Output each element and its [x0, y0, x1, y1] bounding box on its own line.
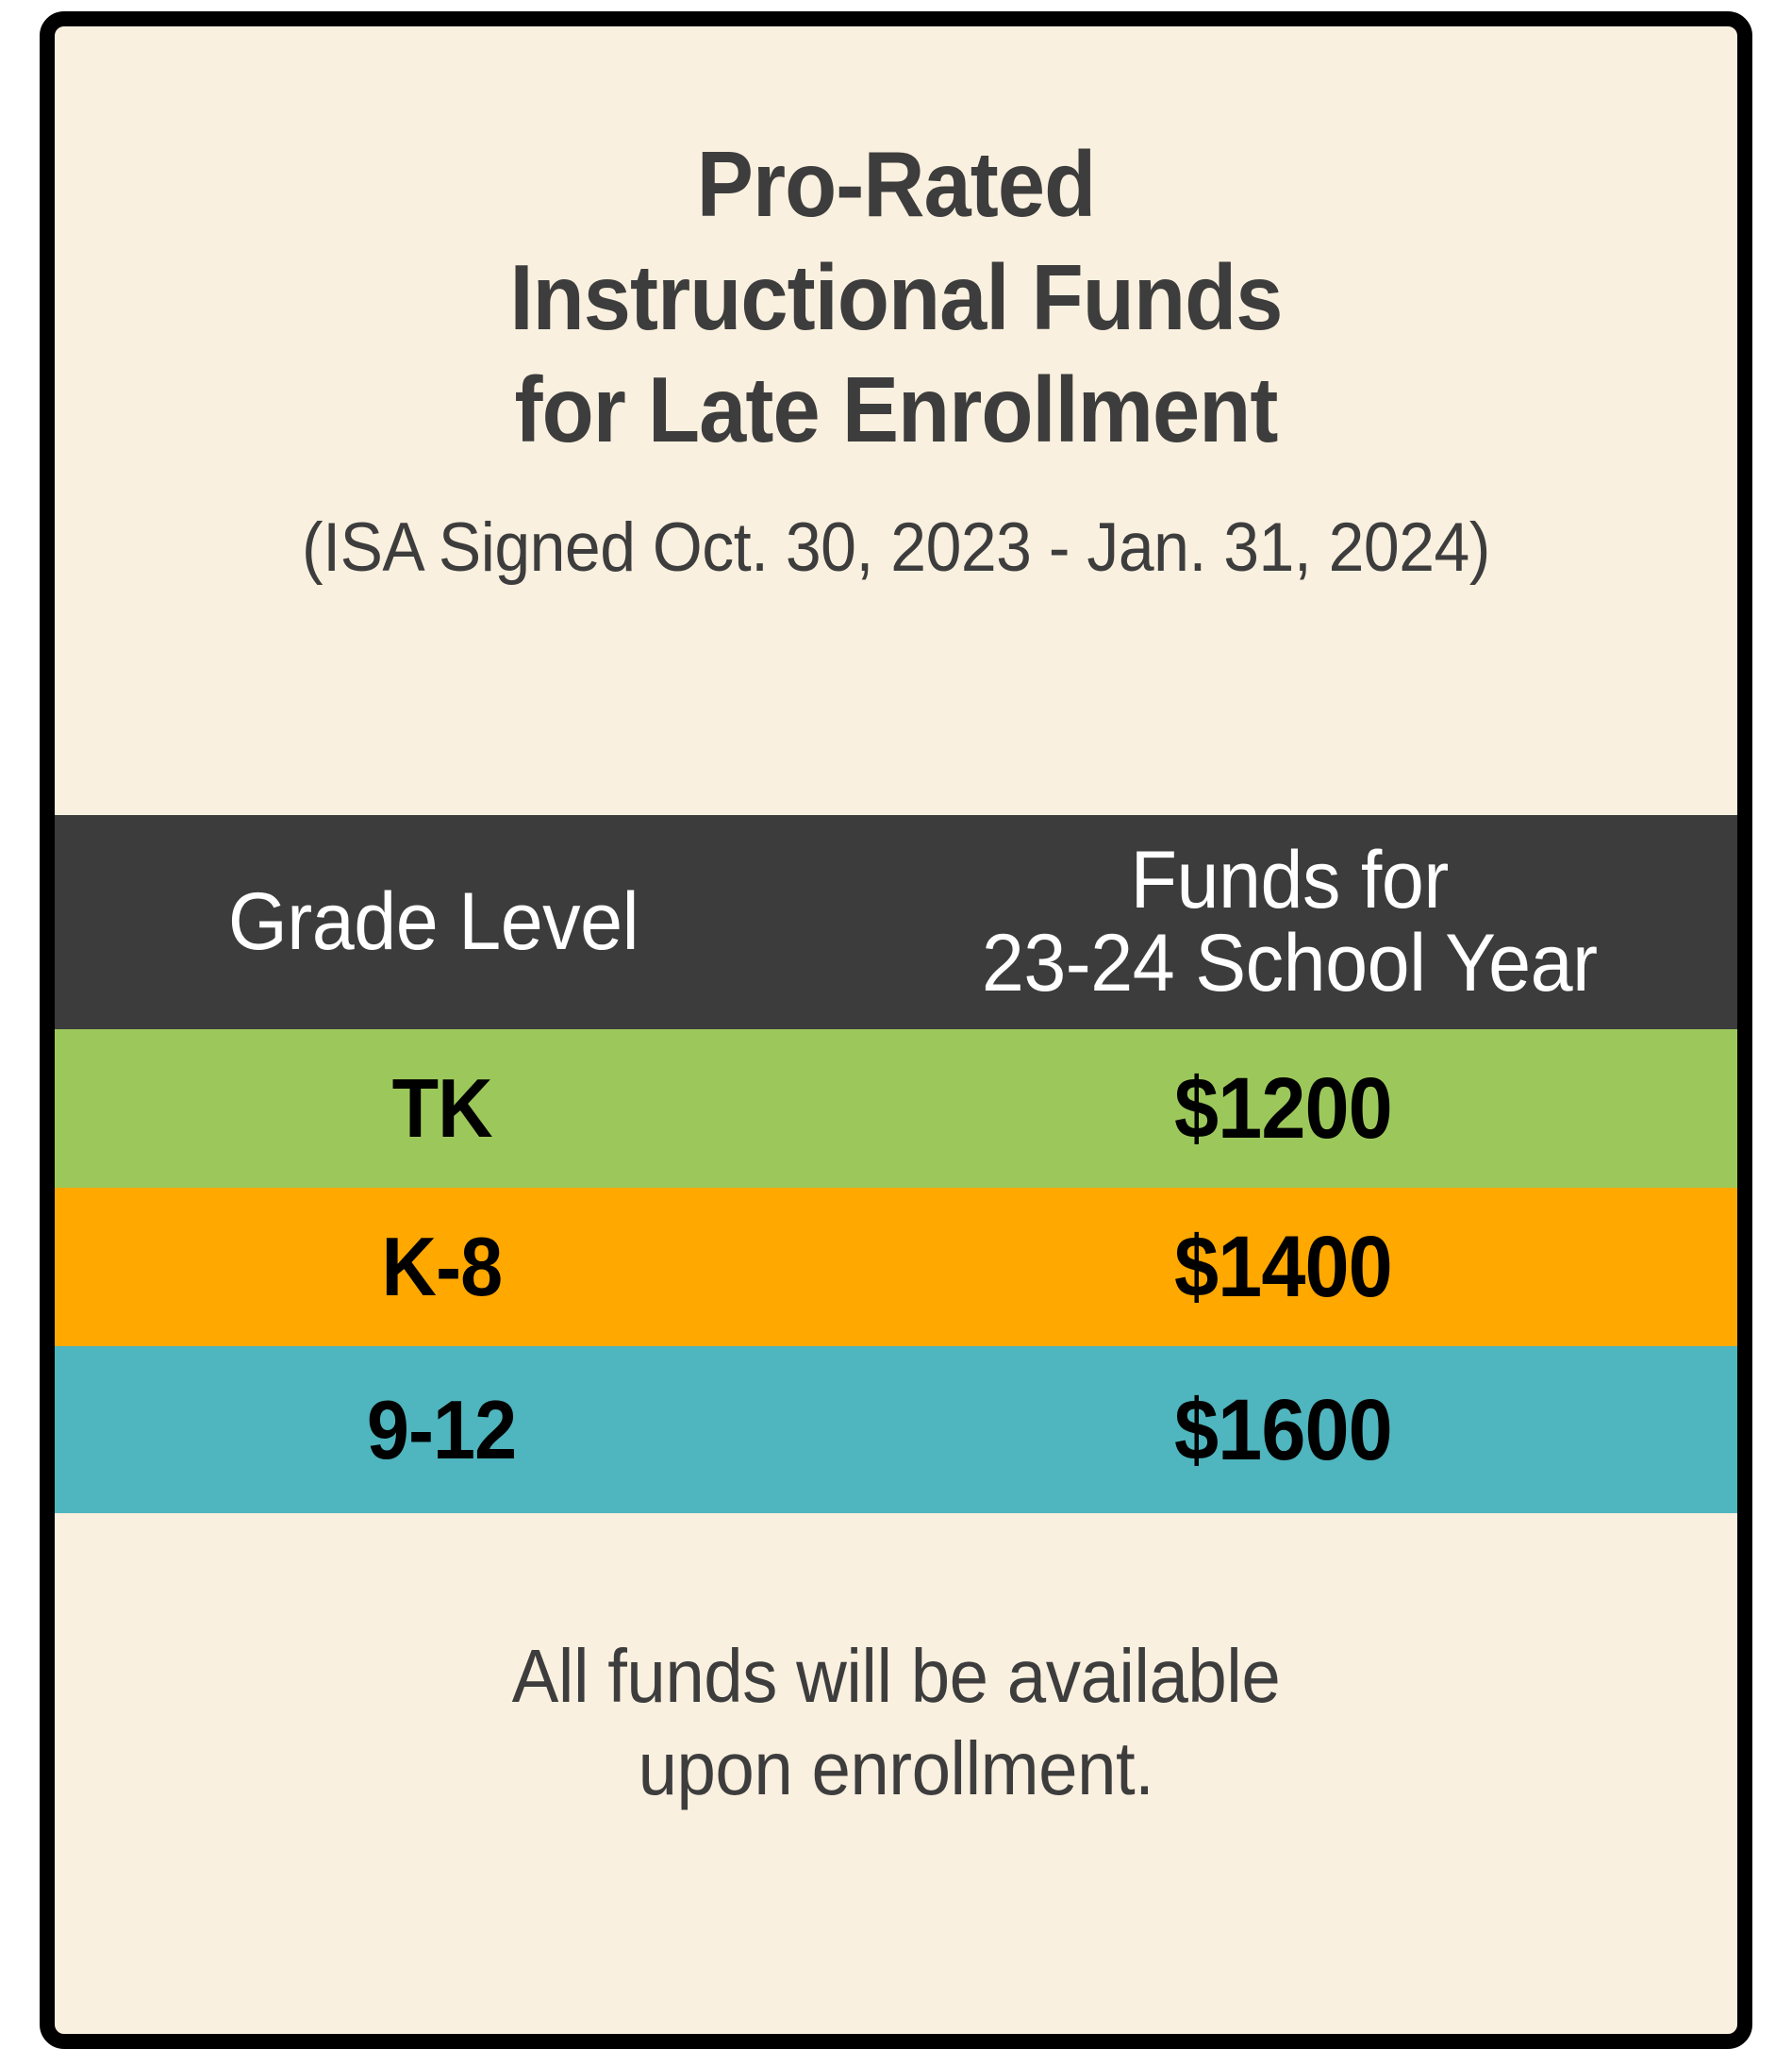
table-cell-amount-k8: $1400 [829, 1188, 1737, 1346]
footer-note-line-2: upon enrollment. [113, 1723, 1678, 1815]
amount-label-912: $1600 [1174, 1387, 1392, 1474]
table-cell-grade-k8: K-8 [55, 1188, 829, 1346]
title-block: Pro-Rated Instructional Funds for Late E… [55, 26, 1737, 588]
table-cell-amount-912: $1600 [829, 1346, 1737, 1513]
page-title-line-1: Pro-Rated [122, 128, 1669, 242]
column-header-funds: Funds for 23-24 School Year [982, 840, 1598, 1005]
table-header-cell-grade: Grade Level [40, 815, 827, 1029]
table-row: K-8 $1400 [55, 1188, 1737, 1346]
column-header-grade-level: Grade Level [228, 881, 639, 964]
table-row: 9-12 $1600 [55, 1346, 1737, 1513]
page-title-line-3: for Late Enrollment [122, 354, 1669, 467]
column-header-funds-line-1: Funds for [1131, 835, 1449, 925]
funds-table: Grade Level Funds for 23-24 School Year … [55, 815, 1737, 1513]
footer-note: All funds will be available upon enrollm… [55, 1630, 1737, 1814]
amount-label-tk: $1200 [1174, 1065, 1392, 1152]
footer-note-line-1: All funds will be available [113, 1630, 1678, 1723]
grade-label-912: 9-12 [367, 1389, 516, 1472]
column-header-funds-line-2: 23-24 School Year [982, 923, 1598, 1006]
amount-label-k8: $1400 [1174, 1224, 1392, 1310]
table-header-cell-funds: Funds for 23-24 School Year [827, 815, 1752, 1029]
table-cell-amount-tk: $1200 [829, 1029, 1737, 1188]
table-cell-grade-912: 9-12 [55, 1346, 829, 1513]
page-title-line-2: Instructional Funds [122, 242, 1669, 355]
table-row: TK $1200 [55, 1029, 1737, 1188]
grade-label-tk: TK [391, 1067, 491, 1150]
grade-label-k8: K-8 [381, 1225, 502, 1308]
table-header-row: Grade Level Funds for 23-24 School Year [40, 815, 1752, 1029]
poster-card: Pro-Rated Instructional Funds for Late E… [40, 11, 1752, 2049]
table-cell-grade-tk: TK [55, 1029, 829, 1188]
page-subtitle: (ISA Signed Oct. 30, 2023 - Jan. 31, 202… [113, 508, 1678, 588]
